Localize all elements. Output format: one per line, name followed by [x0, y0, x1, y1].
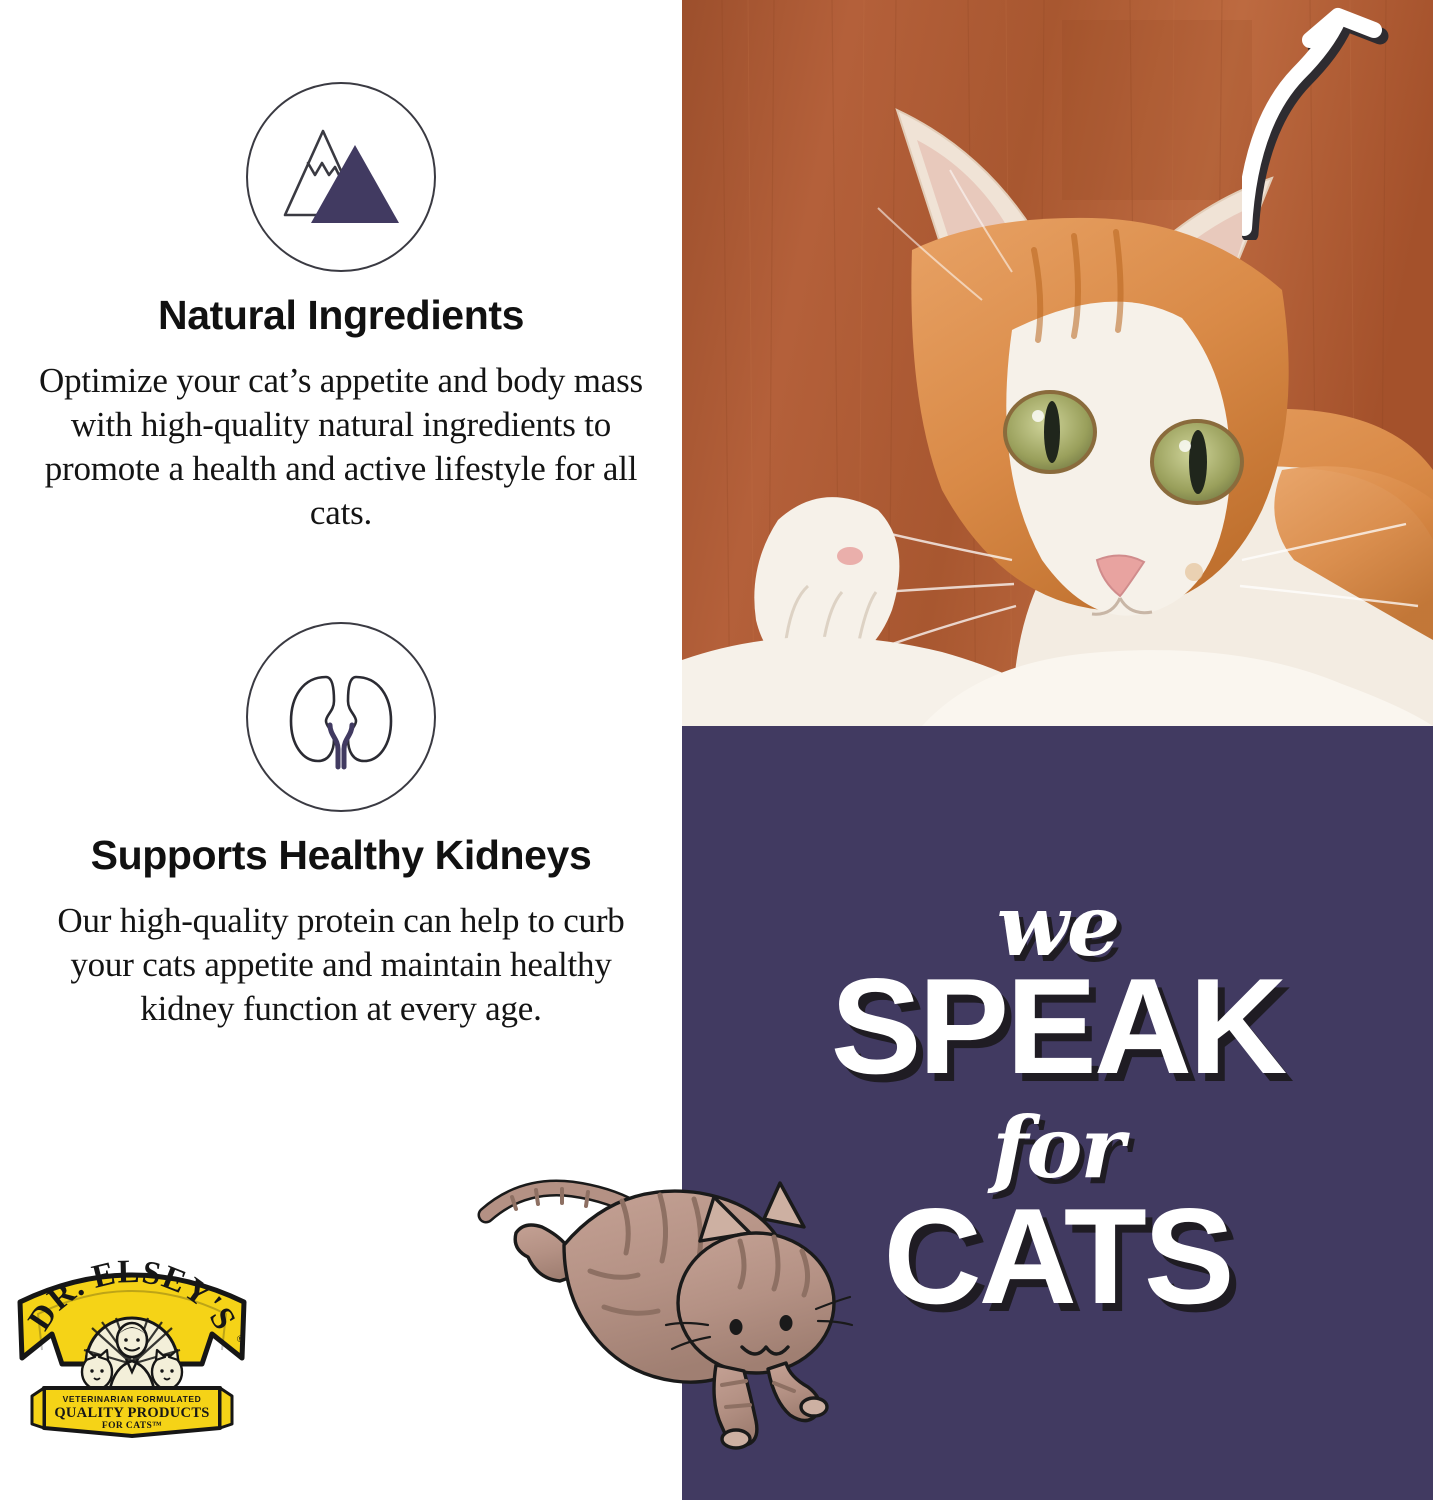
logo-ribbon: VETERINARIAN FORMULATED QUALITY PRODUCTS… [32, 1388, 232, 1436]
logo-registered-mark: ® [237, 1334, 244, 1344]
kidneys-icon-circle [246, 622, 436, 812]
feature-title: Supports Healthy Kidneys [0, 834, 682, 877]
kidneys-icon [279, 661, 403, 773]
logo-ribbon-line-1: VETERINARIAN FORMULATED [63, 1394, 202, 1404]
feature-body-text: Optimize your cat’s appetite and body ma… [26, 359, 656, 535]
mountain-icon-circle [246, 82, 436, 272]
mountain-icon [277, 123, 405, 231]
feature-block-natural-ingredients: Natural Ingredients Optimize your cat’s … [0, 82, 682, 535]
logo-ribbon-line-3: FOR CATS™ [102, 1421, 162, 1431]
curved-up-arrow-icon [1242, 0, 1433, 240]
logo-ribbon-line-2: QUALITY PRODUCTS [54, 1405, 209, 1421]
leaping-cat-illustration [468, 1175, 858, 1465]
dr-elseys-logo: DR. ELSEY'S ® [16, 1258, 248, 1438]
feature-block-healthy-kidneys: Supports Healthy Kidneys Our high-qualit… [0, 622, 682, 1031]
feature-body-text: Our high-quality protein can help to cur… [26, 899, 656, 1031]
feature-title: Natural Ingredients [0, 294, 682, 337]
